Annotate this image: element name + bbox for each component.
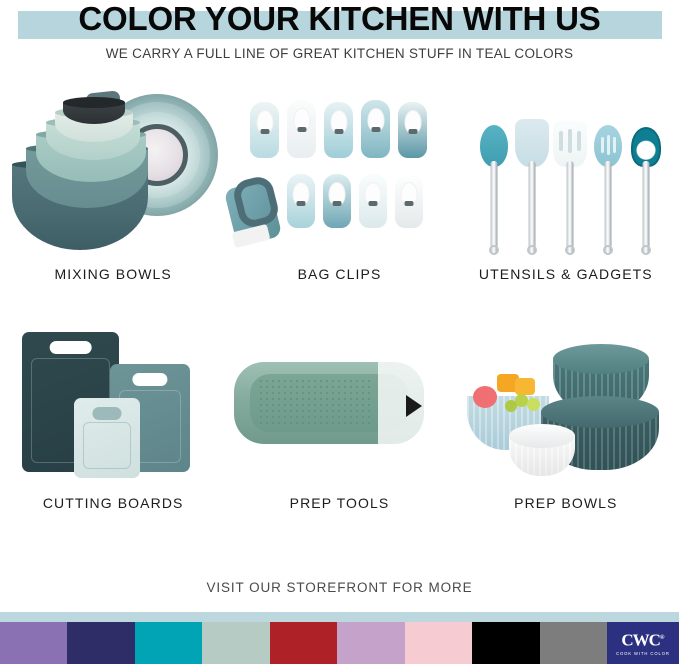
fruit-orange-2	[515, 378, 535, 395]
footer-band	[0, 612, 679, 622]
prep-bowl-lid-white	[509, 424, 575, 448]
logo-tagline: COOK WITH COLOR	[616, 651, 670, 656]
product-label-prep-bowls: PREP BOWLS	[453, 495, 679, 511]
promo-banner: COLOR YOUR KITCHEN WITH US WE CARRY A FU…	[0, 0, 679, 664]
product-card-bag-clips[interactable]: BAG CLIPS	[226, 86, 452, 282]
bag-clip-1	[250, 102, 279, 158]
product-row-2: CUTTING BOARDS PREP TOOLS	[0, 320, 679, 511]
colander-perforations	[258, 378, 370, 428]
product-card-mixing-bowls[interactable]: MIXING BOWLS	[0, 86, 226, 282]
bag-clips-image[interactable]	[226, 86, 452, 261]
cutting-boards-image[interactable]	[0, 320, 226, 490]
play-icon[interactable]	[406, 395, 422, 417]
storefront-cta[interactable]: VISIT OUR STOREFRONT FOR MORE	[0, 580, 679, 595]
utensils-image[interactable]	[453, 86, 679, 261]
swatch-orchid	[337, 622, 404, 664]
bag-clip-6	[287, 174, 315, 228]
swatch-red	[270, 622, 337, 664]
product-card-prep-tools[interactable]: PREP TOOLS	[226, 320, 452, 511]
bag-clip-7	[323, 174, 351, 228]
bag-clip-4	[361, 100, 390, 158]
prep-bowl-lid-bottom	[541, 396, 659, 428]
prep-tools-video-thumbnail[interactable]	[226, 320, 452, 490]
swatch-sage	[202, 622, 269, 664]
product-label-prep-tools: PREP TOOLS	[226, 495, 452, 511]
footer-color-strip: CWC® COOK WITH COLOR	[0, 612, 679, 664]
bag-clip-2	[287, 100, 316, 158]
brand-logo[interactable]: CWC® COOK WITH COLOR	[607, 622, 679, 664]
cutting-board-small	[74, 398, 140, 478]
product-card-cutting-boards[interactable]: CUTTING BOARDS	[0, 320, 226, 511]
logo-mark-text: CWC	[621, 631, 660, 650]
product-row-1: MIXING BOWLS BAG CLI	[0, 86, 679, 282]
bag-clip-3	[324, 102, 353, 158]
fruit-grape-3	[505, 400, 517, 412]
registered-trademark-icon: ®	[660, 635, 664, 641]
page-subtitle: WE CARRY A FULL LINE OF GREAT KITCHEN ST…	[0, 46, 679, 61]
product-label-bag-clips: BAG CLIPS	[226, 266, 452, 282]
product-label-mixing-bowls: MIXING BOWLS	[0, 266, 226, 282]
logo-wordmark: CWC®	[621, 630, 664, 649]
fruit-grape-2	[527, 398, 540, 411]
banner-header: COLOR YOUR KITCHEN WITH US WE CARRY A FU…	[0, 0, 679, 78]
page-title: COLOR YOUR KITCHEN WITH US	[0, 0, 679, 38]
swatch-pink	[405, 622, 472, 664]
swatch-teal	[135, 622, 202, 664]
fruit-grapefruit	[473, 386, 497, 408]
color-swatch-row: CWC® COOK WITH COLOR	[0, 622, 679, 664]
product-card-utensils[interactable]: UTENSILS & GADGETS	[453, 86, 679, 282]
prep-bowl-lid-top	[553, 344, 649, 374]
prep-bowls-image[interactable]	[453, 320, 679, 490]
swatch-black	[472, 622, 539, 664]
product-label-cutting-boards: CUTTING BOARDS	[0, 495, 226, 511]
bag-clip-8	[359, 174, 387, 228]
swatch-navy	[67, 622, 134, 664]
swatch-purple	[0, 622, 67, 664]
bag-clip-5	[398, 102, 427, 158]
product-grid: MIXING BOWLS BAG CLI	[0, 86, 679, 511]
mixing-bowls-image[interactable]	[0, 86, 226, 261]
swatch-gray	[540, 622, 607, 664]
product-card-prep-bowls[interactable]: PREP BOWLS	[453, 320, 679, 511]
product-label-utensils: UTENSILS & GADGETS	[453, 266, 679, 282]
bag-clip-9	[395, 174, 423, 228]
